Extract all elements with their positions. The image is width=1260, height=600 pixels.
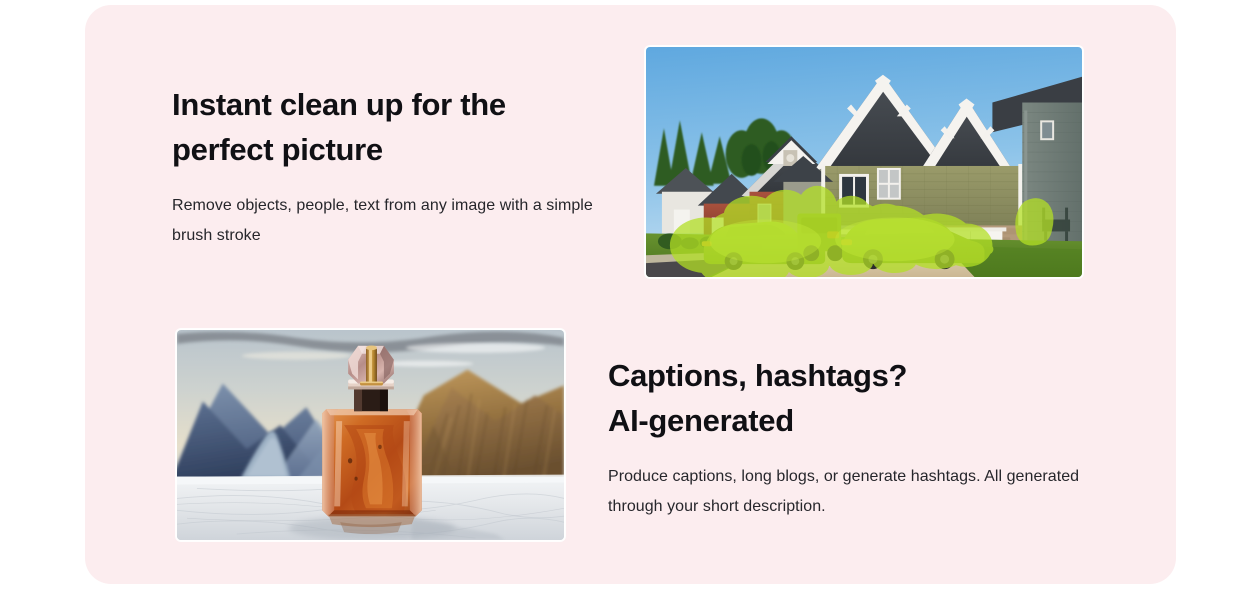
feature-heading-line-1: Captions, hashtags? — [608, 358, 907, 393]
media-perfume-bottle-on-marble-with-mountains — [176, 329, 565, 541]
feature-heading-line-2: AI-generated — [608, 403, 794, 438]
feature-heading-instant-clean-up: Instant clean up for the perfect picture — [172, 82, 602, 172]
feature-row-instant-clean-up: Instant clean up for the perfect picture… — [85, 5, 1176, 295]
screenshot-root: Instant clean up for the perfect picture… — [0, 0, 1260, 600]
feature-text-block-instant-clean-up: Instant clean up for the perfect picture… — [172, 82, 602, 251]
feature-row-ai-captions: Captions, hashtags? AI-generated Produce… — [85, 295, 1176, 584]
feature-heading-line-1: Instant clean up for the — [172, 87, 506, 122]
media-suburban-houses-with-selection-mask — [645, 46, 1083, 278]
feature-card: Instant clean up for the perfect picture… — [85, 5, 1176, 584]
feature-text-block-ai-captions: Captions, hashtags? AI-generated Produce… — [608, 353, 1088, 522]
suburban-houses-illustration — [646, 47, 1082, 277]
feature-heading-line-2: perfect picture — [172, 132, 383, 167]
feature-description-ai-captions: Produce captions, long blogs, or generat… — [608, 462, 1088, 522]
feature-heading-ai-captions: Captions, hashtags? AI-generated — [608, 353, 1088, 443]
perfume-bottle-illustration — [177, 330, 564, 540]
feature-description-instant-clean-up: Remove objects, people, text from any im… — [172, 191, 602, 251]
